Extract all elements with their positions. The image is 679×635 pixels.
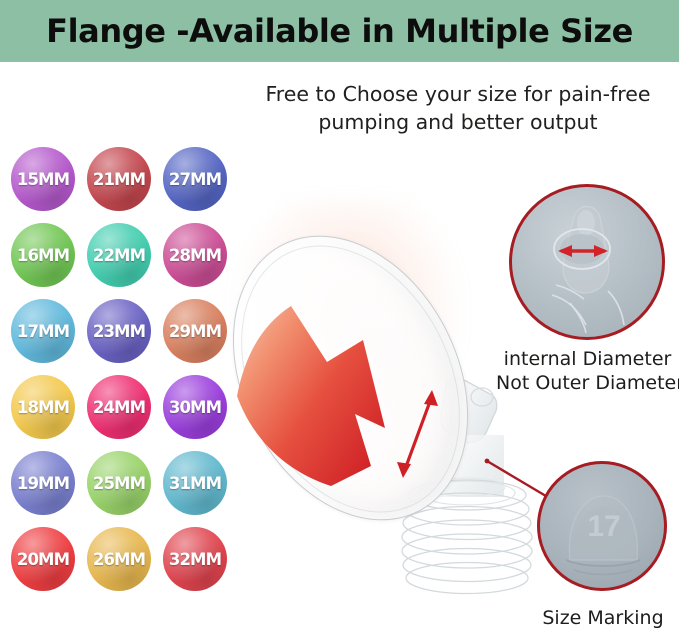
subtitle-line-1: Free to Choose your size for pain-free [248, 80, 668, 108]
size-badge-20mm[interactable]: 20MM [11, 527, 75, 591]
size-badge-label: 21MM [93, 170, 145, 189]
size-badge-label: 25MM [93, 474, 145, 493]
size-badge-label: 18MM [17, 398, 69, 417]
size-badge-31mm[interactable]: 31MM [163, 451, 227, 515]
size-badge-26mm[interactable]: 26MM [87, 527, 151, 591]
size-badge-label: 20MM [17, 550, 69, 569]
size-badge-label: 17MM [17, 322, 69, 341]
size-badge-label: 27MM [169, 170, 221, 189]
size-badge-15mm[interactable]: 15MM [11, 147, 75, 211]
size-badge-label: 28MM [169, 246, 221, 265]
caption-internal-diameter: internal Diameter Not Outer Diameter [496, 347, 679, 395]
size-marking-value: 17 [587, 510, 620, 543]
page-title: Flange -Available in Multiple Size [46, 12, 633, 50]
size-badge-22mm[interactable]: 22MM [87, 223, 151, 287]
infographic-page: Flange -Available in Multiple Size Free … [0, 0, 679, 635]
callout-size-marking: 17 [537, 461, 667, 591]
caption-size-marking: Size Marking [527, 606, 679, 630]
size-marking-detail: 17 [540, 464, 664, 588]
caption-top-line-2: Not Outer Diameter [496, 371, 679, 395]
size-badge-18mm[interactable]: 18MM [11, 375, 75, 439]
header-band: Flange -Available in Multiple Size [0, 0, 679, 62]
size-badge-grid: 15MM16MM17MM18MM19MM20MM21MM22MM23MM24MM… [11, 147, 241, 587]
size-badge-23mm[interactable]: 23MM [87, 299, 151, 363]
size-badge-27mm[interactable]: 27MM [163, 147, 227, 211]
size-badge-32mm[interactable]: 32MM [163, 527, 227, 591]
size-badge-label: 15MM [17, 170, 69, 189]
size-badge-24mm[interactable]: 24MM [87, 375, 151, 439]
subtitle: Free to Choose your size for pain-free p… [248, 80, 668, 136]
caption-top-line-1: internal Diameter [496, 347, 679, 371]
size-badge-label: 30MM [169, 398, 221, 417]
subtitle-line-2: pumping and better output [248, 108, 668, 136]
size-badge-label: 32MM [169, 550, 221, 569]
size-badge-label: 26MM [93, 550, 145, 569]
size-badge-label: 31MM [169, 474, 221, 493]
size-badge-16mm[interactable]: 16MM [11, 223, 75, 287]
callout-internal-diameter [509, 184, 665, 340]
size-badge-21mm[interactable]: 21MM [87, 147, 151, 211]
size-badge-label: 23MM [93, 322, 145, 341]
size-badge-28mm[interactable]: 28MM [163, 223, 227, 287]
size-badge-label: 16MM [17, 246, 69, 265]
size-badge-label: 24MM [93, 398, 145, 417]
size-badge-17mm[interactable]: 17MM [11, 299, 75, 363]
size-badge-label: 22MM [93, 246, 145, 265]
size-badge-label: 19MM [17, 474, 69, 493]
size-badge-label: 29MM [169, 322, 221, 341]
size-badge-29mm[interactable]: 29MM [163, 299, 227, 363]
nipple-tunnel-detail [512, 187, 662, 337]
size-badge-30mm[interactable]: 30MM [163, 375, 227, 439]
product-illustration [225, 180, 555, 610]
diameter-double-arrow-icon [390, 380, 450, 485]
size-badge-19mm[interactable]: 19MM [11, 451, 75, 515]
size-badge-25mm[interactable]: 25MM [87, 451, 151, 515]
